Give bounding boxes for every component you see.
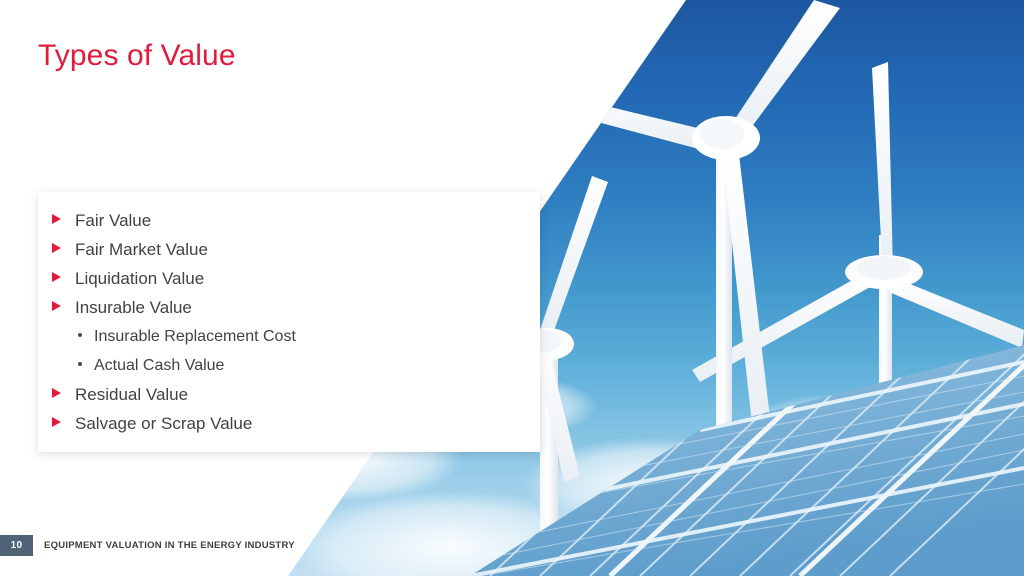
- triangle-bullet-icon: [52, 301, 61, 311]
- dot-bullet-icon: [78, 333, 82, 337]
- slide-number-badge: 10: [0, 535, 33, 556]
- list-item-label: Fair Value: [75, 206, 151, 235]
- list-item-label: Fair Market Value: [75, 235, 208, 264]
- list-item: Fair Market Value: [38, 235, 540, 264]
- list-item-label: Salvage or Scrap Value: [75, 409, 252, 438]
- page-title: Types of Value: [38, 36, 236, 76]
- list-item: Fair Value: [38, 206, 540, 235]
- list-item-label: Liquidation Value: [75, 264, 204, 293]
- value-types-list: Fair Value Fair Market Value Liquidation…: [38, 192, 540, 438]
- presentation-slide: Types of Value Fair Value Fair Market Va…: [0, 0, 1024, 576]
- triangle-bullet-icon: [52, 388, 61, 398]
- deck-title-footer: EQUIPMENT VALUATION IN THE ENERGY INDUST…: [44, 540, 295, 551]
- sub-list-item: Insurable Replacement Cost: [38, 322, 540, 351]
- slide-footer: 10 EQUIPMENT VALUATION IN THE ENERGY IND…: [0, 535, 295, 556]
- sub-list-item: Actual Cash Value: [38, 351, 540, 380]
- list-item-label: Residual Value: [75, 380, 188, 409]
- triangle-bullet-icon: [52, 417, 61, 427]
- list-item: Insurable Value: [38, 293, 540, 322]
- triangle-bullet-icon: [52, 214, 61, 224]
- list-item: Salvage or Scrap Value: [38, 409, 540, 438]
- sub-list-item-label: Insurable Replacement Cost: [94, 322, 296, 351]
- triangle-bullet-icon: [52, 243, 61, 253]
- list-item: Residual Value: [38, 380, 540, 409]
- list-item-label: Insurable Value: [75, 293, 192, 322]
- dot-bullet-icon: [78, 362, 82, 366]
- sub-list-item-label: Actual Cash Value: [94, 351, 224, 380]
- list-item: Liquidation Value: [38, 264, 540, 293]
- triangle-bullet-icon: [52, 272, 61, 282]
